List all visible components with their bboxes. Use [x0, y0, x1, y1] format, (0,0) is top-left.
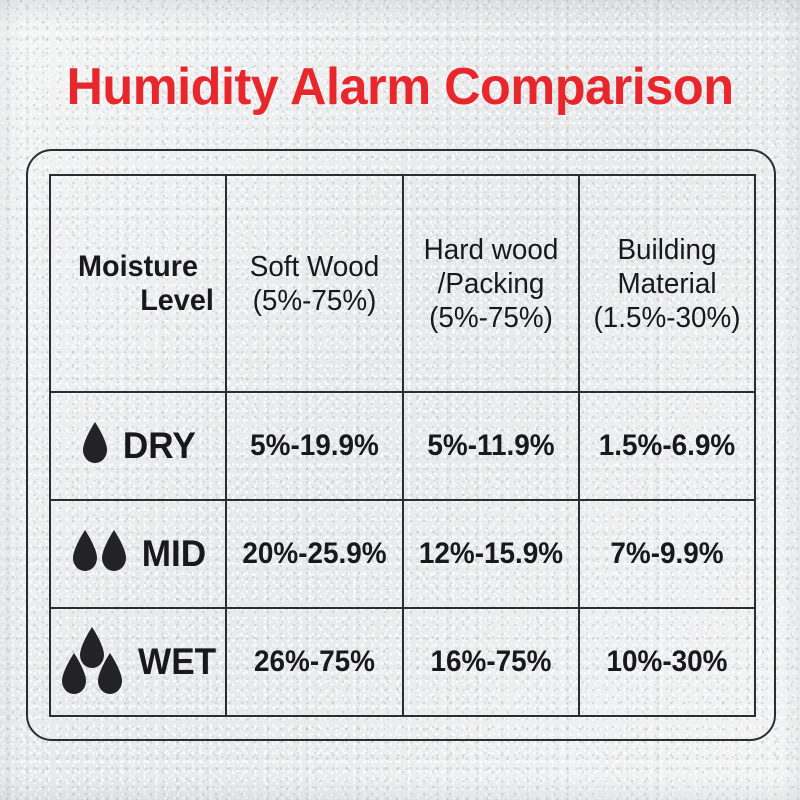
- header-line: Level: [60, 284, 216, 318]
- cell-soft-wood-mid: 20%-25.9%: [232, 500, 397, 608]
- level-label: MID: [141, 534, 205, 574]
- cell-building-material-dry: 1.5%-6.9%: [585, 392, 749, 500]
- column-header-building-material: Building Material (1.5%-30%): [583, 175, 752, 392]
- water-droplet-icon: [69, 524, 131, 584]
- page-root: Humidity Alarm Comparison Moisture Level…: [0, 0, 800, 800]
- table-row: DRY 5%-19.9% 5%-11.9% 1.5%-6.9%: [50, 392, 755, 500]
- comparison-table-container: Moisture Level Soft Wood (5%-75%) Hard w…: [49, 174, 754, 716]
- level-cell-dry: DRY: [50, 392, 226, 500]
- header-line: Moisture: [60, 250, 216, 284]
- water-droplet-icon: [57, 623, 127, 701]
- header-line: Soft Wood: [236, 250, 392, 284]
- cell-building-material-wet: 10%-30%: [585, 608, 749, 716]
- cell-hard-wood-dry: 5%-11.9%: [409, 392, 573, 500]
- header-line: (5%-75%): [236, 284, 392, 318]
- header-line: Material: [589, 267, 745, 301]
- cell-hard-wood-mid: 12%-15.9%: [409, 500, 573, 608]
- column-header-soft-wood: Soft Wood (5%-75%): [230, 175, 400, 392]
- column-header-hard-wood-packing: Hard wood /Packing (5%-75%): [407, 175, 576, 392]
- table-row: MID 20%-25.9% 12%-15.9% 7%-9.9%: [50, 500, 755, 608]
- header-line: /Packing: [413, 267, 569, 301]
- header-line: (1.5%-30%): [589, 301, 745, 335]
- table-row: WET 26%-75% 16%-75% 10%-30%: [50, 608, 755, 716]
- level-cell-mid: MID: [50, 500, 226, 608]
- cell-soft-wood-wet: 26%-75%: [232, 608, 397, 716]
- page-title: Humidity Alarm Comparison: [12, 58, 788, 116]
- header-line: Hard wood: [413, 233, 569, 267]
- level-cell-wet: WET: [50, 608, 226, 716]
- header-line: Building: [589, 233, 745, 267]
- level-label: DRY: [123, 426, 196, 466]
- column-header-moisture-level: Moisture Level: [54, 175, 223, 392]
- header-line: (5%-75%): [413, 301, 569, 335]
- level-label: WET: [138, 642, 216, 682]
- humidity-comparison-table: Moisture Level Soft Wood (5%-75%) Hard w…: [49, 174, 756, 717]
- water-droplet-icon: [78, 416, 112, 476]
- table-header-row: Moisture Level Soft Wood (5%-75%) Hard w…: [50, 175, 755, 392]
- cell-building-material-mid: 7%-9.9%: [585, 500, 749, 608]
- cell-soft-wood-dry: 5%-19.9%: [232, 392, 397, 500]
- cell-hard-wood-wet: 16%-75%: [409, 608, 573, 716]
